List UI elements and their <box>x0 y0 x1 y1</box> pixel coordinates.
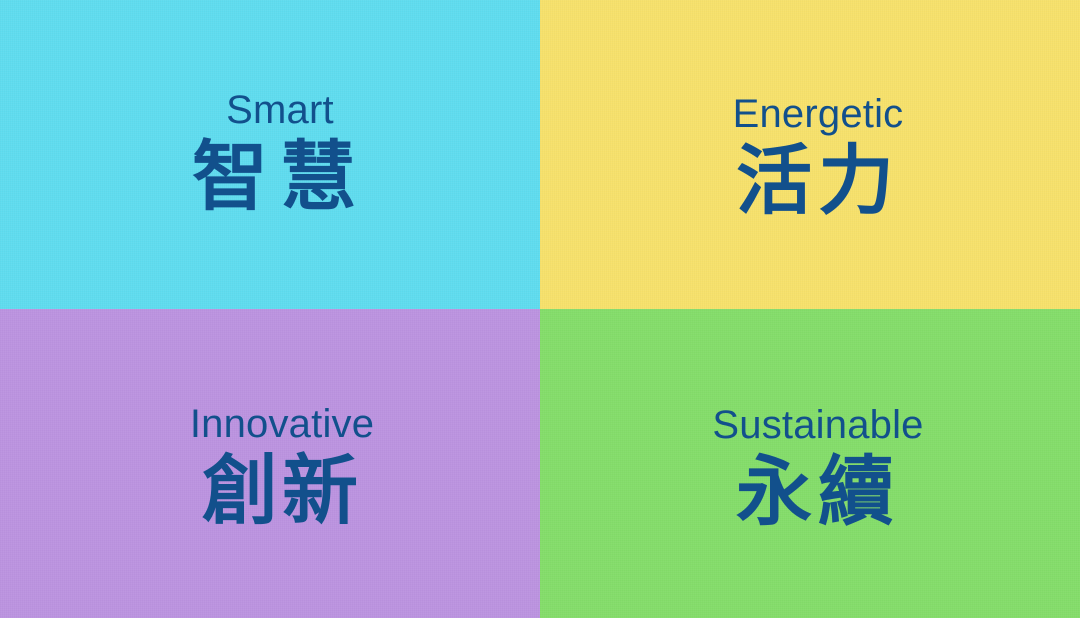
quadrant-energetic-label-en: Energetic <box>733 93 904 135</box>
quadrant-energetic-content: Energetic 活力 <box>733 93 904 224</box>
quadrant-innovative-label-zh: 創新 <box>202 449 362 534</box>
quadrant-innovative-label-en: Innovative <box>190 403 374 445</box>
quadrant-energetic[interactable]: Energetic 活力 <box>540 0 1080 309</box>
quadrant-smart-content: Smart 智慧 <box>192 89 368 220</box>
quadrant-sustainable-label-en: Sustainable <box>712 404 923 446</box>
quadrant-energetic-label-zh: 活力 <box>736 139 900 224</box>
quadrant-innovative-content: Innovative 創新 <box>190 403 374 534</box>
quadrant-sustainable[interactable]: Sustainable 永續 <box>540 309 1080 618</box>
quadrant-smart-label-en: Smart <box>226 89 334 131</box>
quadrant-smart-label-zh: 智慧 <box>192 135 368 220</box>
quadrant-innovative[interactable]: Innovative 創新 <box>0 309 540 618</box>
quadrant-sustainable-content: Sustainable 永續 <box>712 404 923 535</box>
brand-values-grid: Smart 智慧 Energetic 活力 Innovative 創新 Sust… <box>0 0 1080 618</box>
quadrant-sustainable-label-zh: 永續 <box>736 450 900 535</box>
quadrant-smart[interactable]: Smart 智慧 <box>0 0 540 309</box>
